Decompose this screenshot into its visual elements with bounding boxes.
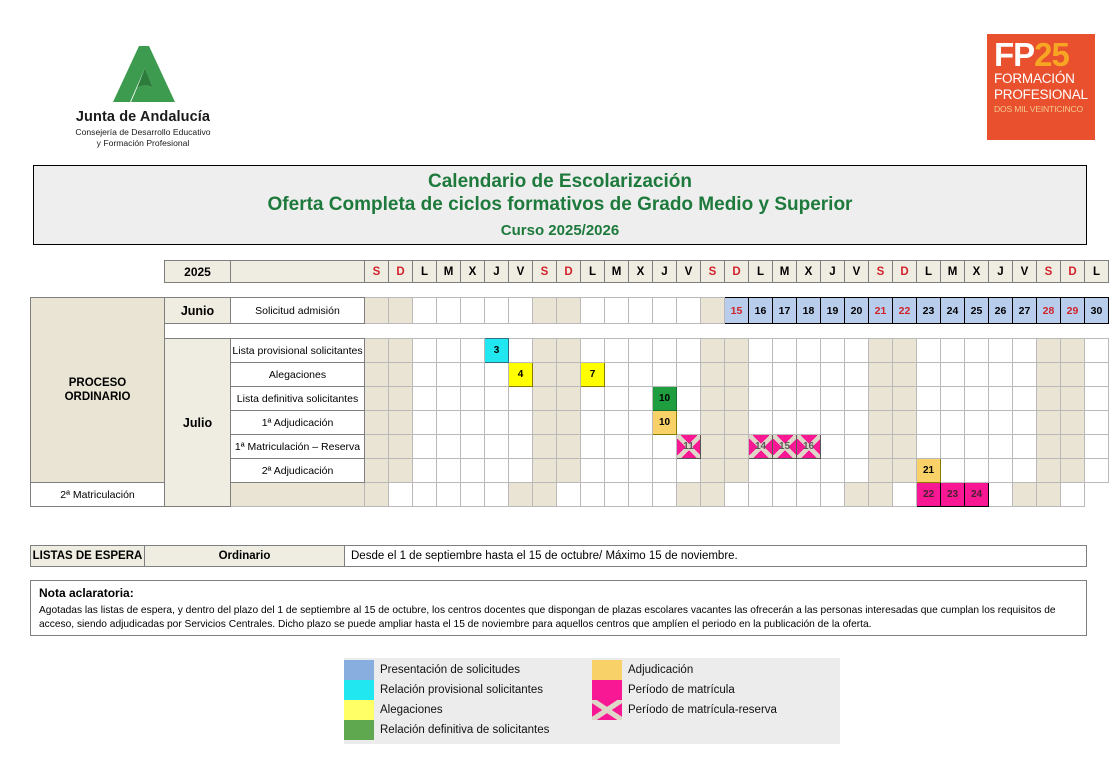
calendar-empty-cell[interactable] — [557, 339, 581, 363]
calendar-empty-cell[interactable] — [749, 363, 773, 387]
calendar-empty-cell[interactable] — [845, 387, 869, 411]
calendar-empty-cell[interactable] — [365, 435, 389, 459]
calendar-row: JulioLista provisional solicitantes3 — [31, 339, 1109, 363]
calendar-empty-cell[interactable] — [485, 459, 509, 483]
calendar-empty-cell[interactable] — [461, 363, 485, 387]
calendar-empty-cell[interactable] — [629, 459, 653, 483]
calendar-empty-cell[interactable] — [365, 298, 389, 324]
calendar-empty-cell[interactable] — [365, 459, 389, 483]
calendar-day-cell[interactable]: 7 — [581, 363, 605, 387]
calendar-empty-cell[interactable] — [677, 339, 701, 363]
calendar-empty-cell[interactable] — [749, 459, 773, 483]
calendar-empty-cell[interactable] — [389, 435, 413, 459]
calendar-empty-cell[interactable] — [1061, 339, 1085, 363]
calendar-empty-cell[interactable] — [1061, 387, 1085, 411]
calendar-empty-cell[interactable] — [653, 459, 677, 483]
legend-swatch — [344, 660, 374, 680]
calendar-empty-cell[interactable] — [1013, 483, 1037, 507]
calendar-day-cell[interactable]: 28 — [1037, 298, 1061, 324]
calendar-empty-cell[interactable] — [485, 435, 509, 459]
weekday-header: D — [725, 261, 749, 283]
note-text: Agotadas las listas de espera, y dentro … — [39, 604, 1078, 632]
calendar-empty-cell[interactable] — [725, 411, 749, 435]
calendar-empty-cell[interactable] — [509, 387, 533, 411]
calendar-empty-cell[interactable] — [413, 411, 437, 435]
calendar-empty-cell[interactable] — [725, 339, 749, 363]
calendar-empty-cell[interactable] — [581, 387, 605, 411]
calendar-empty-cell[interactable] — [509, 411, 533, 435]
calendar-empty-cell[interactable] — [509, 483, 533, 507]
calendar-empty-cell[interactable] — [821, 363, 845, 387]
calendar-empty-cell[interactable] — [605, 459, 629, 483]
calendar-empty-cell[interactable] — [437, 435, 461, 459]
calendar-empty-cell[interactable] — [893, 483, 917, 507]
calendar-empty-cell[interactable] — [725, 363, 749, 387]
calendar-empty-cell[interactable] — [1085, 363, 1109, 387]
weekday-header: D — [557, 261, 581, 283]
calendar-empty-cell[interactable] — [701, 298, 725, 324]
calendar-empty-cell[interactable] — [989, 387, 1013, 411]
calendar-empty-cell[interactable] — [605, 339, 629, 363]
calendar-day-cell[interactable]: 26 — [989, 298, 1013, 324]
calendar-empty-cell[interactable] — [629, 411, 653, 435]
calendar-empty-cell[interactable] — [845, 339, 869, 363]
calendar-empty-cell[interactable] — [893, 363, 917, 387]
calendar-day-cell[interactable]: 17 — [773, 298, 797, 324]
calendar-empty-cell[interactable] — [845, 459, 869, 483]
month-label: Junio — [165, 298, 231, 324]
calendar-empty-cell[interactable] — [797, 459, 821, 483]
calendar-empty-cell[interactable] — [893, 459, 917, 483]
calendar-empty-cell[interactable] — [869, 339, 893, 363]
calendar-empty-cell[interactable] — [581, 483, 605, 507]
calendar-empty-cell[interactable] — [965, 435, 989, 459]
legend-label: Período de matrícula — [628, 684, 735, 696]
calendar-empty-cell[interactable] — [461, 411, 485, 435]
calendar-day-cell[interactable]: 14 — [749, 435, 773, 459]
calendar-day-cell[interactable]: 10 — [653, 411, 677, 435]
calendar-empty-cell[interactable] — [1037, 339, 1061, 363]
calendar-empty-cell[interactable] — [1013, 387, 1037, 411]
calendar-empty-cell[interactable] — [557, 435, 581, 459]
calendar-empty-cell[interactable] — [845, 483, 869, 507]
calendar-empty-cell[interactable] — [485, 298, 509, 324]
calendar-empty-cell[interactable] — [1037, 435, 1061, 459]
calendar-empty-cell[interactable] — [461, 387, 485, 411]
calendar-empty-cell[interactable] — [701, 411, 725, 435]
calendar-empty-cell[interactable] — [581, 298, 605, 324]
calendar-day-cell[interactable]: 29 — [1061, 298, 1085, 324]
calendar-empty-cell[interactable] — [389, 339, 413, 363]
legend-label: Relación provisional solicitantes — [380, 684, 543, 696]
weekday-header: S — [1037, 261, 1061, 283]
calendar-empty-cell[interactable] — [941, 363, 965, 387]
calendar-empty-cell[interactable] — [845, 363, 869, 387]
calendar-empty-cell[interactable] — [677, 483, 701, 507]
calendar-empty-cell[interactable] — [437, 298, 461, 324]
legend-item: Alegaciones — [344, 700, 592, 720]
calendar-empty-cell[interactable] — [581, 411, 605, 435]
calendar-day-cell[interactable]: 19 — [821, 298, 845, 324]
calendar-empty-cell[interactable] — [773, 459, 797, 483]
calendar-empty-cell[interactable] — [941, 339, 965, 363]
calendar-empty-cell[interactable] — [413, 459, 437, 483]
calendar-empty-cell[interactable] — [437, 411, 461, 435]
calendar-empty-cell[interactable] — [725, 435, 749, 459]
calendar-empty-cell[interactable] — [941, 435, 965, 459]
calendar-empty-cell[interactable] — [509, 435, 533, 459]
calendar-empty-cell[interactable] — [845, 435, 869, 459]
calendar-empty-cell[interactable] — [413, 363, 437, 387]
calendar-empty-cell[interactable] — [533, 483, 557, 507]
calendar-empty-cell[interactable] — [989, 411, 1013, 435]
calendar-empty-cell[interactable] — [533, 339, 557, 363]
calendar-empty-cell[interactable] — [1013, 339, 1037, 363]
calendar-table: 2025SDLMXJVSDLMXJVSDLMXJVSDLMXJVSDLPROCE… — [30, 260, 1109, 507]
row-label: Alegaciones — [231, 363, 365, 387]
calendar-empty-cell[interactable] — [629, 363, 653, 387]
calendar-empty-cell[interactable] — [581, 459, 605, 483]
row-label: Lista provisional solicitantes — [231, 339, 365, 363]
calendar-empty-cell[interactable] — [1061, 411, 1085, 435]
calendar-empty-cell[interactable] — [965, 387, 989, 411]
calendar-empty-cell[interactable] — [629, 298, 653, 324]
calendar-empty-cell[interactable] — [773, 387, 797, 411]
calendar-empty-cell[interactable] — [1061, 363, 1085, 387]
calendar-empty-cell[interactable] — [509, 339, 533, 363]
calendar-empty-cell[interactable] — [701, 363, 725, 387]
weekday-header: S — [365, 261, 389, 283]
legend-item: Relación provisional solicitantes — [344, 680, 592, 700]
calendar-empty-cell[interactable] — [725, 483, 749, 507]
calendar-empty-cell[interactable] — [797, 411, 821, 435]
calendar-empty-cell[interactable] — [533, 435, 557, 459]
calendar-empty-cell[interactable] — [845, 411, 869, 435]
calendar-empty-cell[interactable] — [749, 483, 773, 507]
calendar-day-cell[interactable]: 3 — [485, 339, 509, 363]
calendar-day-cell[interactable]: 16 — [797, 435, 821, 459]
calendar-empty-cell[interactable] — [533, 387, 557, 411]
calendar-empty-cell[interactable] — [677, 363, 701, 387]
calendar-day-cell[interactable]: 24 — [965, 483, 989, 507]
calendar-empty-cell[interactable] — [413, 483, 437, 507]
calendar-empty-cell[interactable] — [485, 387, 509, 411]
calendar-empty-cell[interactable] — [749, 411, 773, 435]
calendar-empty-cell[interactable] — [749, 387, 773, 411]
title-line-3: Curso 2025/2026 — [501, 222, 619, 239]
legend-label: Adjudicación — [628, 664, 693, 676]
calendar-empty-cell[interactable] — [965, 411, 989, 435]
weekday-header: J — [989, 261, 1013, 283]
calendar-empty-cell[interactable] — [557, 363, 581, 387]
calendar-empty-cell[interactable] — [461, 483, 485, 507]
calendar-empty-cell[interactable] — [797, 387, 821, 411]
calendar-empty-cell[interactable] — [1061, 483, 1085, 507]
calendar-empty-cell[interactable] — [941, 411, 965, 435]
calendar-empty-cell[interactable] — [437, 459, 461, 483]
calendar-empty-cell[interactable] — [1085, 411, 1109, 435]
calendar-empty-cell[interactable] — [701, 387, 725, 411]
calendar-empty-cell[interactable] — [605, 387, 629, 411]
calendar-empty-cell[interactable] — [677, 411, 701, 435]
calendar-empty-cell[interactable] — [821, 411, 845, 435]
calendar-empty-cell[interactable] — [389, 411, 413, 435]
calendar-empty-cell[interactable] — [557, 387, 581, 411]
calendar-empty-cell[interactable] — [533, 298, 557, 324]
calendar-empty-cell[interactable] — [797, 483, 821, 507]
calendar-empty-cell[interactable] — [797, 363, 821, 387]
calendar-day-cell[interactable]: 21 — [917, 459, 941, 483]
calendar-empty-cell[interactable] — [773, 339, 797, 363]
calendar-empty-cell[interactable] — [629, 339, 653, 363]
calendar-day-cell[interactable]: 16 — [749, 298, 773, 324]
calendar-empty-cell[interactable] — [653, 435, 677, 459]
calendar-day-cell[interactable]: 23 — [917, 298, 941, 324]
calendar-empty-cell[interactable] — [725, 387, 749, 411]
calendar-empty-cell[interactable] — [941, 459, 965, 483]
calendar-empty-cell[interactable] — [821, 483, 845, 507]
calendar-empty-cell[interactable] — [1037, 483, 1061, 507]
calendar-empty-cell[interactable] — [605, 483, 629, 507]
weekday-header: M — [605, 261, 629, 283]
row-label: 2ª Matriculación — [31, 483, 165, 507]
calendar-empty-cell[interactable] — [869, 411, 893, 435]
calendar-empty-cell[interactable] — [557, 411, 581, 435]
calendar-empty-cell[interactable] — [965, 363, 989, 387]
legend-item: Presentación de solicitudes — [344, 660, 592, 680]
calendar-empty-cell[interactable] — [869, 435, 893, 459]
calendar-empty-cell[interactable] — [989, 339, 1013, 363]
calendar-empty-cell[interactable] — [389, 387, 413, 411]
waiting-list-text: Desde el 1 de septiembre hasta el 15 de … — [345, 545, 1087, 567]
calendar-empty-cell[interactable] — [581, 435, 605, 459]
weekday-header: M — [773, 261, 797, 283]
calendar-day-cell[interactable]: 22 — [893, 298, 917, 324]
calendar-empty-cell[interactable] — [629, 435, 653, 459]
calendar-day-cell[interactable]: 24 — [941, 298, 965, 324]
calendar-day-cell[interactable]: 15 — [725, 298, 749, 324]
calendar-empty-cell[interactable] — [461, 435, 485, 459]
calendar-empty-cell[interactable] — [869, 483, 893, 507]
calendar-empty-cell[interactable] — [821, 435, 845, 459]
weekday-header: M — [437, 261, 461, 283]
calendar-empty-cell[interactable] — [989, 435, 1013, 459]
legend-item: Relación definitiva de solicitantes — [344, 720, 592, 740]
calendar-empty-cell[interactable] — [485, 411, 509, 435]
calendar-empty-cell[interactable] — [389, 298, 413, 324]
calendar-empty-cell[interactable] — [485, 363, 509, 387]
calendar-empty-cell[interactable] — [701, 339, 725, 363]
calendar-empty-cell[interactable] — [653, 363, 677, 387]
calendar-empty-cell[interactable] — [437, 363, 461, 387]
calendar-empty-cell[interactable] — [1037, 459, 1061, 483]
weekday-header: D — [389, 261, 413, 283]
calendar-empty-cell[interactable] — [893, 339, 917, 363]
calendar-empty-cell[interactable] — [437, 387, 461, 411]
calendar-empty-cell[interactable] — [893, 411, 917, 435]
calendar-empty-cell[interactable] — [629, 387, 653, 411]
calendar-day-cell[interactable]: 15 — [773, 435, 797, 459]
calendar-day-cell[interactable]: 20 — [845, 298, 869, 324]
calendar-empty-cell[interactable] — [605, 435, 629, 459]
row-label: Lista definitiva solicitantes — [231, 387, 365, 411]
calendar-empty-cell[interactable] — [1085, 435, 1109, 459]
calendar-empty-cell[interactable] — [413, 298, 437, 324]
waiting-list-label: LISTAS DE ESPERA — [30, 545, 145, 567]
calendar-empty-cell[interactable] — [557, 298, 581, 324]
calendar-empty-cell[interactable] — [509, 298, 533, 324]
calendar-empty-cell[interactable] — [461, 459, 485, 483]
weekday-header: X — [629, 261, 653, 283]
calendar-empty-cell[interactable] — [1037, 363, 1061, 387]
calendar-empty-cell[interactable] — [917, 435, 941, 459]
legend-swatch — [344, 700, 374, 720]
calendar-empty-cell[interactable] — [677, 387, 701, 411]
calendar-empty-cell[interactable] — [533, 459, 557, 483]
calendar-day-cell[interactable]: 21 — [869, 298, 893, 324]
calendar-empty-cell[interactable] — [413, 339, 437, 363]
header-spacer — [31, 261, 165, 283]
calendar-empty-cell[interactable] — [1085, 339, 1109, 363]
calendar-empty-cell[interactable] — [989, 483, 1013, 507]
calendar-day-cell[interactable]: 10 — [653, 387, 677, 411]
calendar-empty-cell[interactable] — [1037, 411, 1061, 435]
row-label: 2ª Adjudicación — [231, 459, 365, 483]
andalucia-a-icon — [28, 44, 258, 106]
calendar-empty-cell[interactable] — [869, 387, 893, 411]
calendar-empty-cell[interactable] — [653, 483, 677, 507]
calendar-empty-cell[interactable] — [389, 459, 413, 483]
calendar-empty-cell[interactable] — [773, 363, 797, 387]
calendar-empty-cell[interactable] — [965, 339, 989, 363]
calendar-empty-cell[interactable] — [485, 483, 509, 507]
calendar-empty-cell[interactable] — [557, 459, 581, 483]
calendar-day-cell[interactable]: 22 — [917, 483, 941, 507]
calendar-empty-cell[interactable] — [509, 459, 533, 483]
calendar-empty-cell[interactable] — [773, 411, 797, 435]
calendar-empty-cell[interactable] — [917, 339, 941, 363]
calendar-empty-cell[interactable] — [773, 483, 797, 507]
calendar-empty-cell[interactable] — [365, 483, 389, 507]
calendar-empty-cell[interactable] — [461, 339, 485, 363]
weekday-header: V — [509, 261, 533, 283]
calendar-empty-cell[interactable] — [821, 339, 845, 363]
calendar-day-cell[interactable]: 18 — [797, 298, 821, 324]
calendar-empty-cell[interactable] — [557, 483, 581, 507]
calendar-empty-cell[interactable] — [677, 298, 701, 324]
calendar-empty-cell[interactable] — [365, 339, 389, 363]
calendar-empty-cell[interactable] — [869, 459, 893, 483]
calendar-empty-cell[interactable] — [231, 483, 365, 507]
calendar-empty-cell[interactable] — [437, 483, 461, 507]
calendar-gap-row — [31, 283, 1109, 298]
calendar-empty-cell[interactable] — [917, 363, 941, 387]
calendar-empty-cell[interactable] — [1061, 459, 1085, 483]
calendar-empty-cell[interactable] — [653, 298, 677, 324]
calendar-empty-cell[interactable] — [533, 363, 557, 387]
calendar-empty-cell[interactable] — [965, 459, 989, 483]
calendar-empty-cell[interactable] — [725, 459, 749, 483]
calendar-empty-cell[interactable] — [1037, 387, 1061, 411]
clarification-note: Nota aclaratoria: Agotadas las listas de… — [30, 580, 1087, 636]
calendar-empty-cell[interactable] — [1013, 459, 1037, 483]
calendar-empty-cell[interactable] — [605, 363, 629, 387]
calendar-empty-cell[interactable] — [653, 339, 677, 363]
row-label: Solicitud admisión — [231, 298, 365, 324]
calendar-empty-cell[interactable] — [413, 435, 437, 459]
weekday-header: X — [965, 261, 989, 283]
calendar-day-cell[interactable]: 30 — [1085, 298, 1109, 324]
legend-label: Período de matrícula-reserva — [628, 704, 777, 716]
calendar-empty-cell[interactable] — [629, 483, 653, 507]
calendar-empty-cell[interactable] — [1013, 435, 1037, 459]
calendar-empty-cell[interactable] — [365, 411, 389, 435]
calendar-empty-cell[interactable] — [1085, 387, 1109, 411]
fp25-logo: FP25 FORMACIÓN PROFESIONAL DOS MIL VEINT… — [987, 34, 1095, 140]
calendar-empty-cell[interactable] — [437, 339, 461, 363]
legend-label: Relación definitiva de solicitantes — [380, 724, 549, 736]
calendar-empty-cell[interactable] — [1013, 411, 1037, 435]
calendar-empty-cell[interactable] — [797, 339, 821, 363]
calendar-day-cell[interactable]: 4 — [509, 363, 533, 387]
fp25-line1: FORMACIÓN — [994, 72, 1089, 86]
calendar-empty-cell[interactable] — [1061, 435, 1085, 459]
calendar-empty-cell[interactable] — [1085, 459, 1109, 483]
calendar-empty-cell[interactable] — [893, 435, 917, 459]
calendar-empty-cell[interactable] — [917, 411, 941, 435]
legend-column-left: Presentación de solicitudesRelación prov… — [344, 660, 592, 740]
calendar-empty-cell[interactable] — [389, 363, 413, 387]
calendar-empty-cell[interactable] — [701, 459, 725, 483]
calendar-empty-cell[interactable] — [917, 387, 941, 411]
org-name: Junta de Andalucía — [28, 109, 258, 125]
calendar-empty-cell[interactable] — [893, 387, 917, 411]
calendar-empty-cell[interactable] — [821, 459, 845, 483]
calendar-empty-cell[interactable] — [413, 387, 437, 411]
calendar-page: Junta de Andalucía Consejería de Desarro… — [0, 0, 1117, 771]
weekday-header: S — [869, 261, 893, 283]
calendar-day-cell[interactable]: 25 — [965, 298, 989, 324]
calendar-empty-cell[interactable] — [605, 411, 629, 435]
calendar-empty-cell[interactable] — [989, 459, 1013, 483]
title-line-1: Calendario de Escolarización — [428, 171, 692, 193]
waiting-list-row: LISTAS DE ESPERA Ordinario Desde el 1 de… — [30, 545, 1087, 567]
calendar-empty-cell[interactable] — [365, 387, 389, 411]
calendar-empty-cell[interactable] — [821, 387, 845, 411]
legend-item: Período de matrícula-reserva — [592, 700, 840, 720]
calendar-empty-cell[interactable] — [701, 435, 725, 459]
calendar-empty-cell[interactable] — [869, 363, 893, 387]
calendar-empty-cell[interactable] — [701, 483, 725, 507]
calendar-empty-cell[interactable] — [677, 459, 701, 483]
calendar-empty-cell[interactable] — [605, 298, 629, 324]
calendar-day-cell[interactable]: 27 — [1013, 298, 1037, 324]
legend: Presentación de solicitudesRelación prov… — [344, 658, 840, 744]
legend-item: Período de matrícula — [592, 680, 840, 700]
calendar-empty-cell[interactable] — [365, 363, 389, 387]
calendar-empty-cell[interactable] — [461, 298, 485, 324]
calendar-day-cell[interactable]: 23 — [941, 483, 965, 507]
calendar-empty-cell[interactable] — [389, 483, 413, 507]
calendar-empty-cell[interactable] — [749, 339, 773, 363]
calendar-empty-cell[interactable] — [1013, 363, 1037, 387]
page-title: Calendario de Escolarización Oferta Comp… — [33, 165, 1087, 245]
calendar-empty-cell[interactable] — [581, 339, 605, 363]
calendar-empty-cell[interactable] — [989, 363, 1013, 387]
calendar-empty-cell[interactable] — [941, 387, 965, 411]
calendar-day-cell[interactable]: 11 — [677, 435, 701, 459]
calendar-empty-cell[interactable] — [533, 411, 557, 435]
